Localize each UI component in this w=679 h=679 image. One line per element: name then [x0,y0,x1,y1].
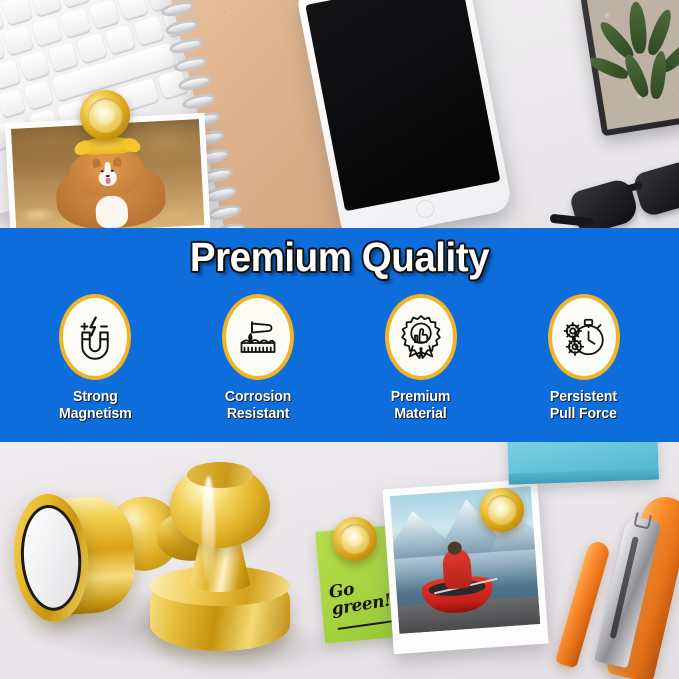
phone-screen [305,0,500,211]
feature-icon-circle [59,294,131,380]
feature-corrosion-resistant: Corrosion Resistant [183,294,333,423]
award-thumbs-up-icon [397,313,445,361]
product-listing-image: Premium Quality Strong Mag [0,0,679,679]
gold-magnet [333,517,377,561]
stopwatch-gears-icon [560,313,608,361]
top-lifestyle-photo [0,0,679,228]
blue-sticky-pad [507,442,659,485]
gold-magnet [80,90,130,140]
banner-title: Premium Quality [20,234,658,281]
feature-banner: Premium Quality Strong Mag [0,228,679,442]
succulent-pot [579,0,679,136]
magnet-standing [140,458,300,658]
feature-list: Strong Magnetism Corrosion [0,294,679,423]
bottom-product-photo: Go green! [0,442,679,679]
sunglasses [567,151,679,228]
feature-persistent-pull-force: Persistent Pull Force [509,294,659,423]
phone-home-button [415,198,436,219]
feature-icon-circle [548,294,620,380]
orange-stapler [592,489,679,679]
feature-label: Premium Material [391,389,451,423]
feature-label: Corrosion Resistant [225,389,291,423]
feature-label: Strong Magnetism [59,389,132,423]
feature-strong-magnetism: Strong Magnetism [20,294,170,423]
magnet-icon [71,313,119,361]
corrosion-icon [234,313,282,361]
feature-icon-circle [385,294,457,380]
feature-icon-circle [222,294,294,380]
feature-premium-material: Premium Material [346,294,496,423]
sticky-note-text: Go green! [328,576,392,619]
gold-magnet [480,488,524,532]
feature-label: Persistent Pull Force [550,389,617,423]
magnet-side-view [10,488,147,625]
